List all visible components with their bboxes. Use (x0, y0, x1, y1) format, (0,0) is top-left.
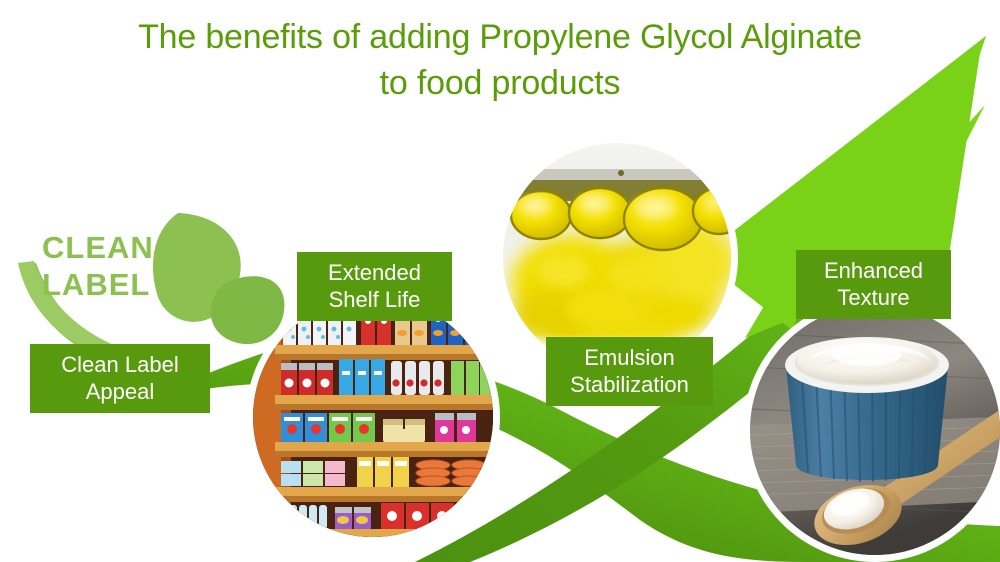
caption-extended-shelf-life: Extended Shelf Life (297, 252, 452, 321)
yogurt-bowl-with-spoon-photo (750, 305, 1000, 555)
supermarket-shelves-photo (253, 297, 493, 537)
caption-enhanced-texture: Enhanced Texture (796, 250, 951, 319)
caption-clean-label-appeal: Clean Label Appeal (30, 344, 210, 413)
caption-emulsion-stabilization: Emulsion Stabilization (546, 337, 713, 406)
page-title: The benefits of adding Propylene Glycol … (0, 14, 1000, 106)
clean-label-logo-text: CLEAN LABEL (42, 229, 202, 303)
infographic-canvas: The benefits of adding Propylene Glycol … (0, 0, 1000, 562)
